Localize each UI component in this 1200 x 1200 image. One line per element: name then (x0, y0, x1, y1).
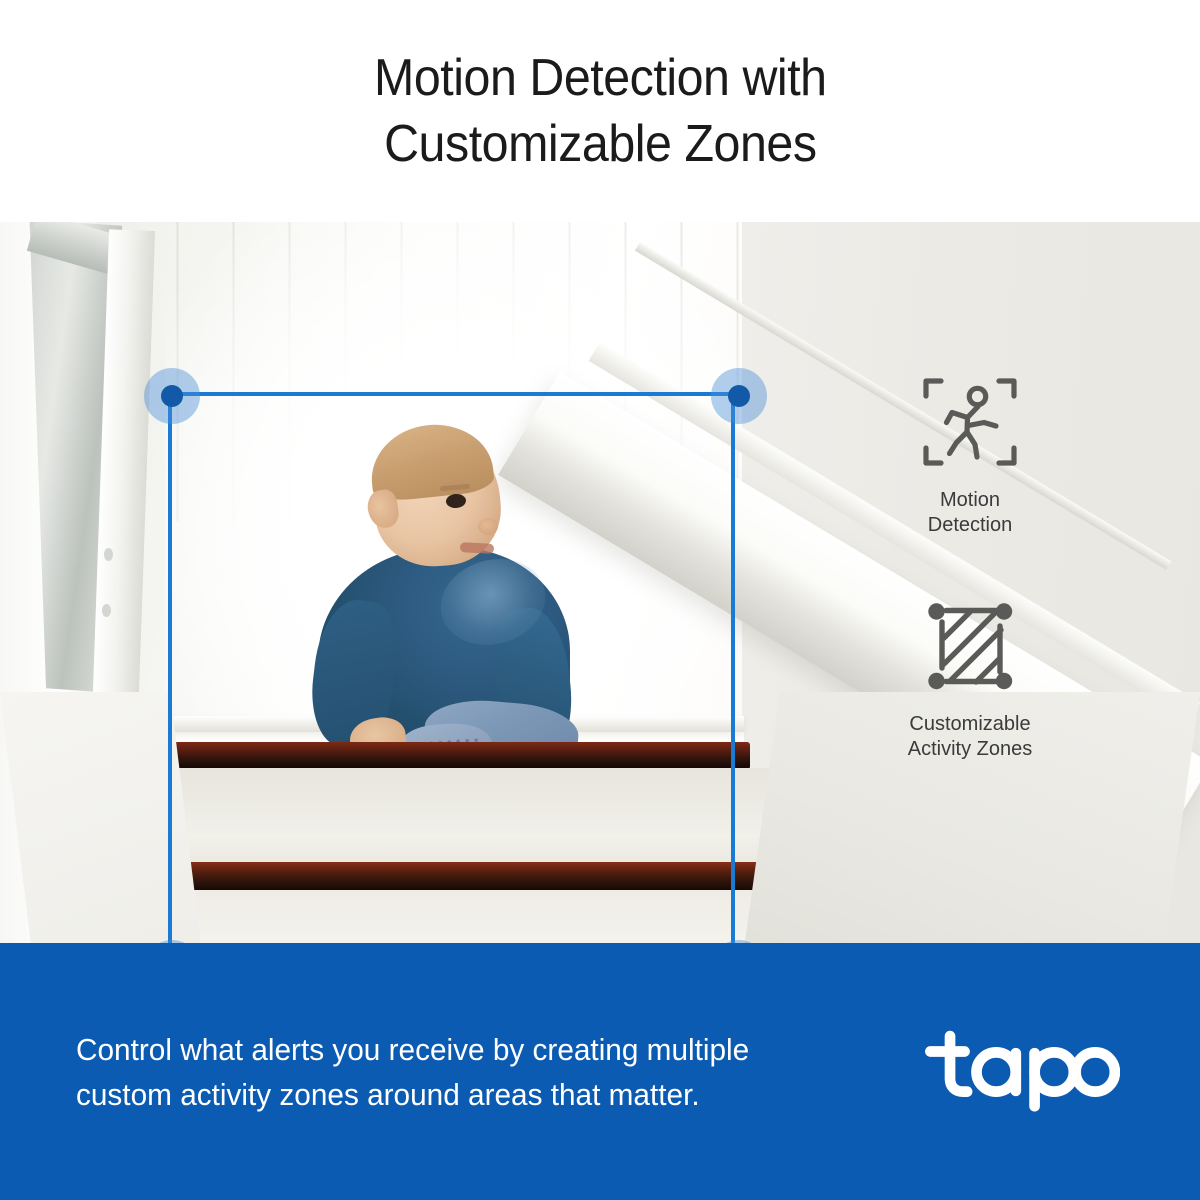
feature-customizable-activity-zones: Customizable Activity Zones (880, 596, 1060, 762)
feature-label-line-2: Detection (928, 514, 1013, 536)
scene-photo: Motion Detection (0, 222, 1200, 943)
page-title: Motion Detection with Customizable Zones (374, 45, 827, 177)
page-title-line-2: Customizable Zones (374, 111, 827, 177)
customizable-activity-zones-icon (920, 596, 1020, 696)
feature-motion-detection: Motion Detection (880, 372, 1060, 538)
tapo-logo (915, 1029, 1120, 1115)
activity-zone-rectangle[interactable] (168, 392, 735, 943)
zone-handle-top-right[interactable] (711, 368, 767, 424)
footer-description: Control what alerts you receive by creat… (76, 1027, 786, 1117)
motion-detection-icon (920, 372, 1020, 472)
zone-handle-top-left[interactable] (144, 368, 200, 424)
wall-fixing-lower (102, 604, 111, 617)
poster-root: Motion Detection with Customizable Zones (0, 0, 1200, 1200)
footer: Control what alerts you receive by creat… (0, 943, 1200, 1200)
feature-label-line-2: Activity Zones (908, 738, 1032, 760)
page-title-line-1: Motion Detection with (374, 45, 827, 111)
feature-label-motion-detection: Motion Detection (928, 488, 1013, 538)
feature-label-line-1: Motion (940, 489, 1000, 511)
feature-list: Motion Detection (880, 372, 1060, 762)
header: Motion Detection with Customizable Zones (0, 0, 1200, 222)
feature-label-line-1: Customizable (909, 713, 1030, 735)
wall-fixing-upper (104, 548, 113, 561)
feature-label-customizable-activity-zones: Customizable Activity Zones (908, 712, 1032, 762)
